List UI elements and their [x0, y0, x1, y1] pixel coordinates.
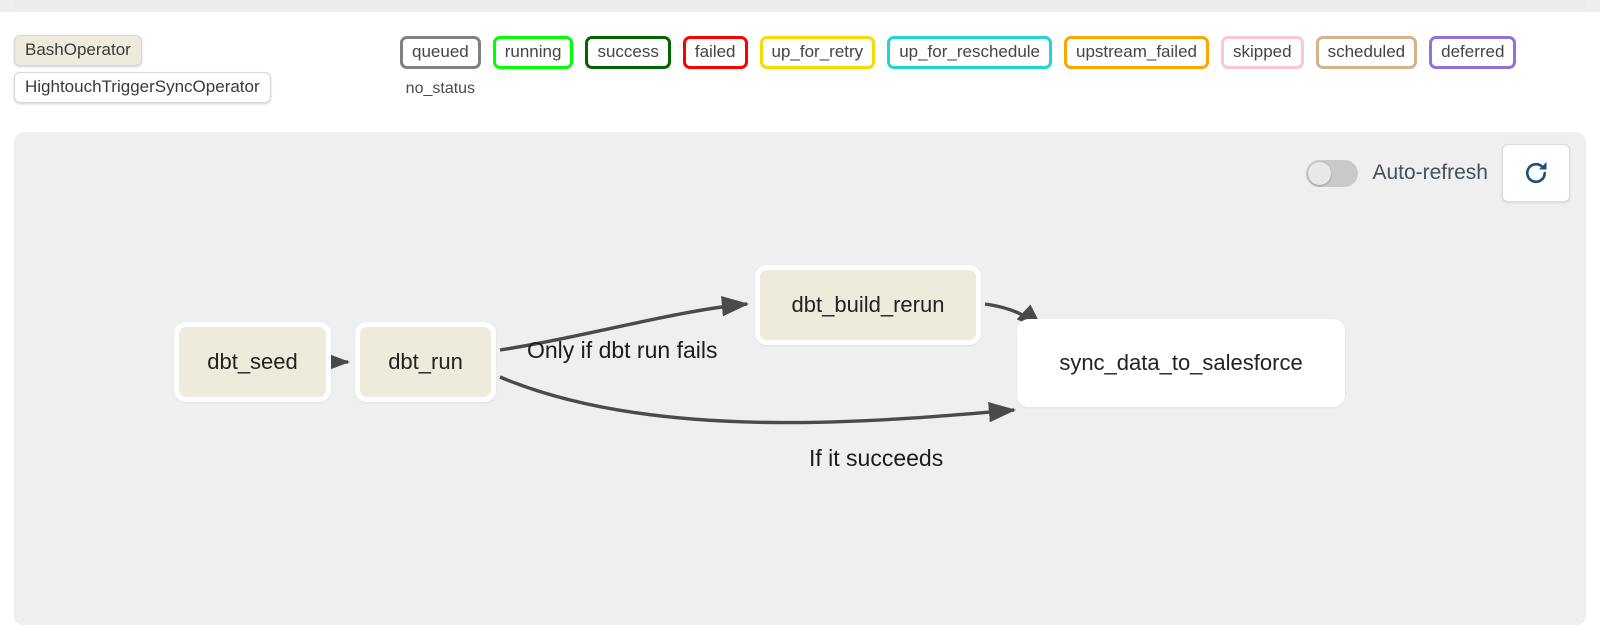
status-legend-item-scheduled: scheduled — [1316, 36, 1418, 69]
graph-node-label: sync_data_to_salesforce — [1059, 350, 1302, 376]
edge-label-only-if-dbt-run-fails: Only if dbt run fails — [527, 337, 717, 364]
status-legend-item-up-for-reschedule: up_for_reschedule — [887, 36, 1052, 69]
status-legend-item-deferred: deferred — [1429, 36, 1516, 69]
legend-row: BashOperator HightouchTriggerSyncOperato… — [0, 12, 1600, 124]
status-legend-item-upstream-failed: upstream_failed — [1064, 36, 1209, 69]
operator-chip-bashoperator[interactable]: BashOperator — [14, 35, 142, 66]
status-badge-upstream-failed[interactable]: upstream_failed — [1064, 36, 1209, 69]
status-badge-failed[interactable]: failed — [683, 36, 748, 69]
status-legend-item-up-for-retry: up_for_retry — [760, 36, 876, 69]
status-legend-item-running: running — [493, 36, 574, 69]
graph-node-dbt-seed[interactable]: dbt_seed — [174, 322, 331, 402]
graph-node-dbt-build-rerun[interactable]: dbt_build_rerun — [755, 265, 981, 345]
status-legend-item-skipped: skipped — [1221, 36, 1304, 69]
operator-chip-hightouchtriggersyncoperator[interactable]: HightouchTriggerSyncOperator — [14, 72, 271, 103]
status-badge-queued[interactable]: queued — [400, 36, 481, 69]
graph-node-dbt-run[interactable]: dbt_run — [355, 322, 496, 402]
status-sublabel-no-status: no_status — [406, 79, 475, 99]
edge-label-if-it-succeeds: If it succeeds — [809, 445, 943, 472]
status-badge-up-for-retry[interactable]: up_for_retry — [760, 36, 876, 69]
graph-node-sync-data-to-salesforce[interactable]: sync_data_to_salesforce — [1017, 319, 1345, 407]
graph-canvas[interactable]: dbt_seed dbt_run dbt_build_rerun sync_da… — [14, 132, 1586, 625]
status-legend: queued no_status running success failed … — [400, 36, 1516, 99]
status-legend-item-queued: queued no_status — [400, 36, 481, 99]
status-badge-up-for-reschedule[interactable]: up_for_reschedule — [887, 36, 1052, 69]
status-legend-item-success: success — [585, 36, 670, 69]
graph-node-label: dbt_run — [388, 349, 463, 375]
status-badge-scheduled[interactable]: scheduled — [1316, 36, 1418, 69]
top-background-strip — [0, 0, 1600, 12]
status-badge-deferred[interactable]: deferred — [1429, 36, 1516, 69]
edge-dbt-run-to-sync-data-to-salesforce — [500, 377, 1014, 423]
graph-panel: Auto-refresh dbt_seed — [14, 132, 1586, 625]
graph-node-label: dbt_build_rerun — [792, 292, 945, 318]
status-badge-skipped[interactable]: skipped — [1221, 36, 1304, 69]
status-legend-item-failed: failed — [683, 36, 748, 69]
graph-node-label: dbt_seed — [207, 349, 298, 375]
status-badge-running[interactable]: running — [493, 36, 574, 69]
status-badge-success[interactable]: success — [585, 36, 670, 69]
top-strip-inner — [14, 0, 1586, 9]
operator-legend: BashOperator HightouchTriggerSyncOperato… — [14, 35, 271, 103]
